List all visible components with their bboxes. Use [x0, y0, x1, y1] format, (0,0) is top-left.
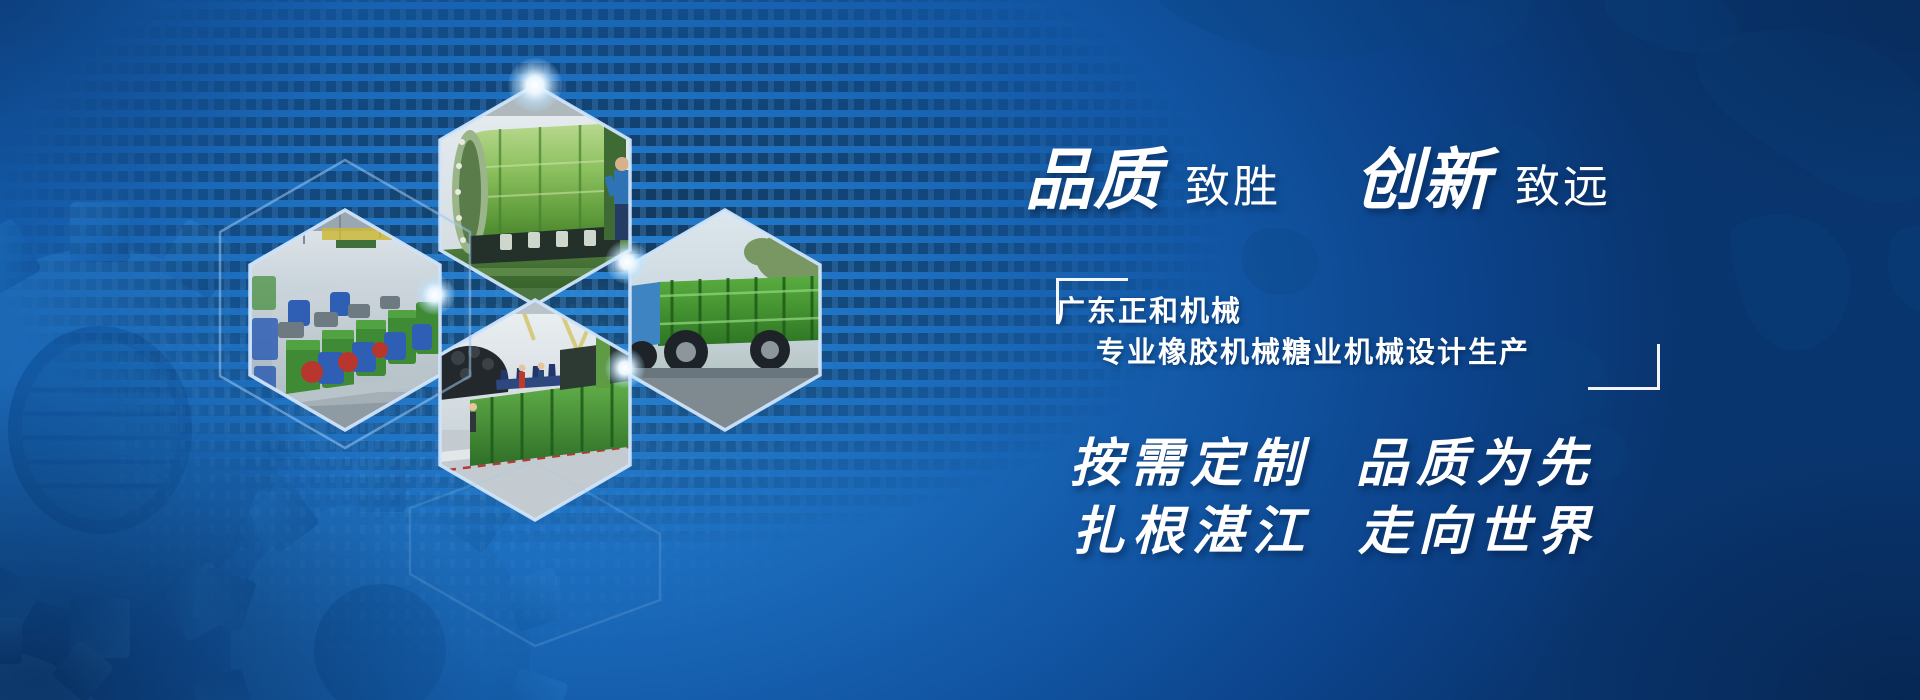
headline-part1-big: 品质 — [1025, 146, 1161, 213]
subtitle-line-1: 广东正和机械 — [1056, 292, 1646, 333]
slogan-row-1: 按需定制 品质为先 — [1070, 430, 1598, 498]
slogan-row1-right: 品质为先 — [1356, 430, 1596, 498]
slogan-row2-right: 走向世界 — [1358, 498, 1598, 566]
slogan-row-2: 扎根湛江 走向世界 — [1070, 498, 1598, 566]
subtitle-block: 广东正和机械 专业橡胶机械糖业机械设计生产 — [1056, 292, 1646, 374]
headline: 品质 致胜 创新 致远 — [1025, 146, 1611, 213]
hex-photo-right — [627, 200, 852, 440]
banner-text-content: 品质 致胜 创新 致远 广东正和机械 专业橡胶机械糖业机械设计生产 按需定制 品… — [1010, 0, 1920, 700]
bracket-corner-top-left — [1056, 278, 1128, 324]
slogan-block: 按需定制 品质为先 扎根湛江 走向世界 — [1070, 430, 1598, 565]
subtitle-line-2: 专业橡胶机械糖业机械设计生产 — [1056, 333, 1646, 374]
headline-part2-big: 创新 — [1355, 146, 1491, 213]
headline-part2-small: 致远 — [1515, 164, 1611, 213]
hex-photo-cluster — [0, 0, 900, 700]
hex-photo-left — [250, 205, 450, 435]
slogan-row1-left: 按需定制 — [1070, 430, 1310, 498]
headline-part1-small: 致胜 — [1185, 164, 1281, 213]
promo-banner: 品质 致胜 创新 致远 广东正和机械 专业橡胶机械糖业机械设计生产 按需定制 品… — [0, 0, 1920, 700]
slogan-row2-left: 扎根湛江 — [1072, 498, 1312, 566]
bracket-corner-bottom-right — [1588, 344, 1660, 390]
